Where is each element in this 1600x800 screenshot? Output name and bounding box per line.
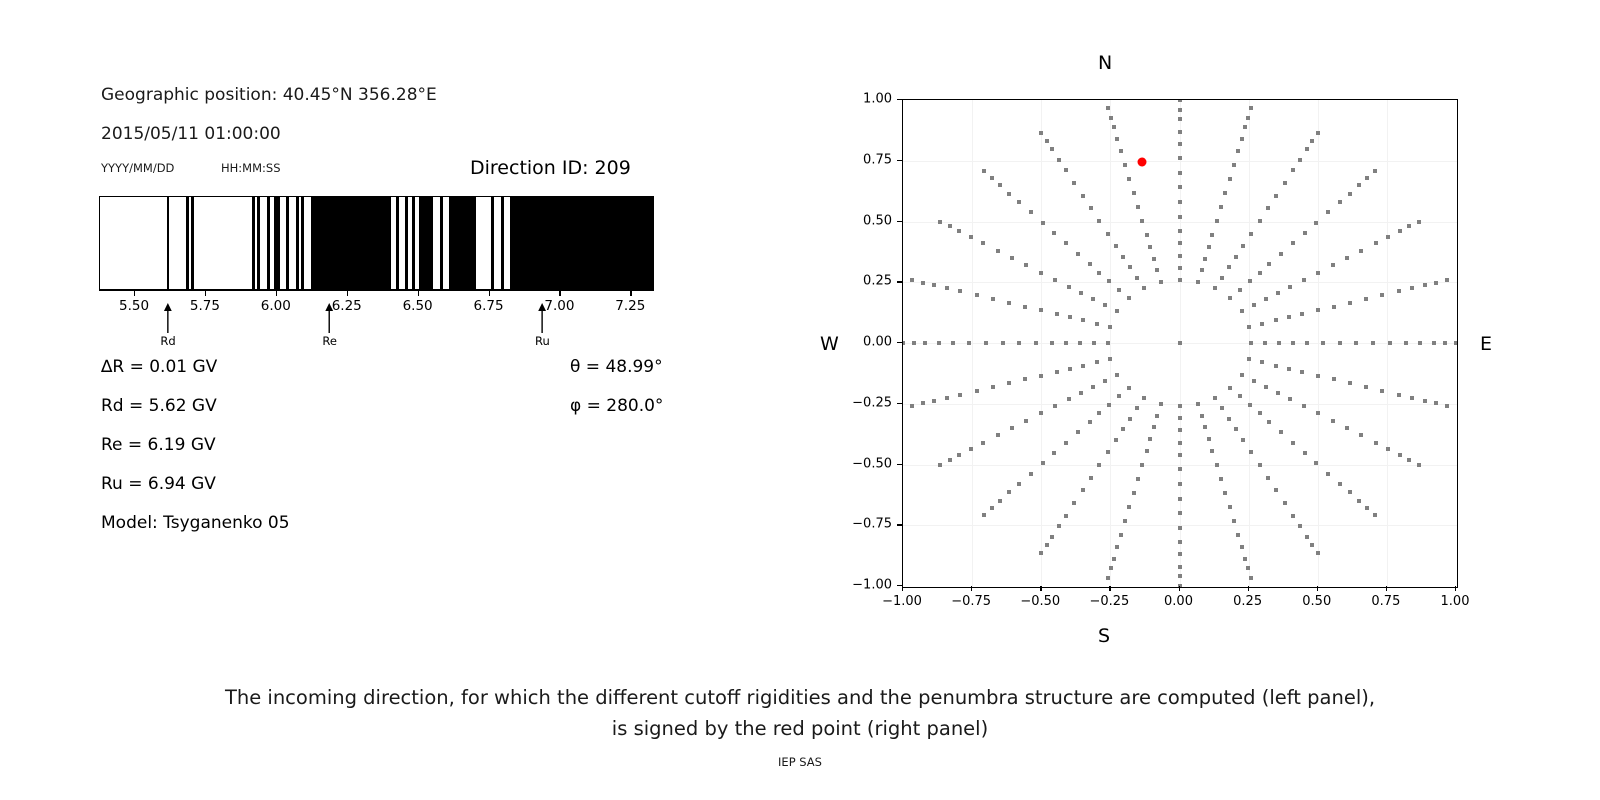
direction-point	[1267, 420, 1271, 424]
direction-point	[990, 506, 994, 510]
compass-label-north: N	[1098, 52, 1112, 74]
penumbra-axis-tick	[347, 290, 348, 296]
direction-point	[1228, 505, 1232, 509]
direction-point	[1274, 488, 1278, 492]
direction-point	[1443, 341, 1447, 345]
penumbra-stripe	[396, 197, 399, 289]
penumbra-axis-tick-label: 5.50	[119, 298, 149, 314]
direction-point	[1354, 341, 1358, 345]
direction-point	[1432, 341, 1436, 345]
direction-point	[1298, 524, 1302, 528]
x-axis-tick-label: 0.00	[1164, 594, 1193, 609]
direction-point	[1220, 406, 1224, 410]
direction-point	[1203, 425, 1207, 429]
direction-point	[1072, 181, 1076, 185]
direction-point	[1434, 401, 1438, 405]
y-axis-tick	[897, 342, 902, 343]
penumbra-stripe	[412, 197, 415, 289]
direction-point	[1249, 450, 1253, 454]
penumbra-stripe	[167, 197, 170, 289]
direction-point	[1274, 194, 1278, 198]
direction-point	[1081, 488, 1085, 492]
direction-point	[1258, 463, 1262, 467]
penumbra-axis-tick	[276, 290, 277, 296]
y-axis-tick-label: 1.00	[840, 92, 892, 107]
penumbra-stripe	[257, 197, 260, 289]
direction-point	[1374, 241, 1378, 245]
direction-point	[1243, 557, 1247, 561]
direction-point	[1203, 257, 1207, 261]
penumbra-stripe	[419, 197, 433, 289]
direction-point	[1264, 385, 1268, 389]
direction-point	[1178, 552, 1182, 556]
direction-point	[1213, 396, 1217, 400]
direction-point	[1152, 425, 1156, 429]
direction-point	[1331, 263, 1335, 267]
direction-point	[1359, 249, 1363, 253]
direction-point	[1064, 241, 1068, 245]
direction-point	[957, 453, 961, 457]
direction-point	[1314, 221, 1318, 225]
y-axis-tick-label: −1.00	[840, 578, 892, 593]
direction-point	[1298, 158, 1302, 162]
direction-point	[1417, 463, 1421, 467]
direction-point	[1029, 210, 1033, 214]
direction-point	[1148, 245, 1152, 249]
direction-point	[1249, 106, 1253, 110]
direction-point	[1050, 341, 1054, 345]
y-axis-tick-label: −0.50	[840, 456, 892, 471]
direction-point	[1079, 291, 1083, 295]
direction-point	[981, 241, 985, 245]
direction-point	[1088, 420, 1092, 424]
geographic-position-label: Geographic position: 40.45°N 356.28°E	[101, 85, 437, 105]
direction-point	[1220, 276, 1224, 280]
direction-point	[1234, 427, 1238, 431]
direction-point	[1024, 263, 1028, 267]
direction-point	[1348, 381, 1352, 385]
direction-point	[984, 341, 988, 345]
caption-line-2: is signed by the red point (right panel)	[0, 713, 1600, 744]
datetime-label: 2015/05/11 01:00:00	[101, 124, 281, 144]
direction-point	[1249, 576, 1253, 580]
x-axis-tick-label: 0.75	[1371, 594, 1400, 609]
param-delta-r: ∆R = 0.01 GV	[101, 357, 217, 377]
penumbra-band-plot	[99, 196, 654, 290]
direction-point	[1300, 312, 1304, 316]
direction-point	[991, 385, 995, 389]
y-axis-tick-label: −0.75	[840, 517, 892, 532]
direction-point	[1240, 373, 1244, 377]
direction-point	[1127, 386, 1131, 390]
rigidity-marker-label: Ru	[535, 334, 550, 348]
direction-point	[1196, 402, 1200, 406]
direction-point	[1055, 312, 1059, 316]
direction-point	[1371, 341, 1375, 345]
direction-point	[1398, 453, 1402, 457]
direction-point	[1103, 303, 1107, 307]
direction-point	[1246, 566, 1250, 570]
direction-point	[1418, 341, 1422, 345]
direction-point	[1039, 551, 1043, 555]
direction-point	[1079, 391, 1083, 395]
y-axis-tick-label: 0.75	[840, 152, 892, 167]
direction-point	[1178, 416, 1182, 420]
direction-point	[1398, 229, 1402, 233]
x-axis-tick	[1109, 586, 1110, 591]
direction-point	[1215, 219, 1219, 223]
direction-point	[1095, 322, 1099, 326]
direction-point	[1305, 341, 1309, 345]
direction-point	[1288, 397, 1292, 401]
direction-point	[1348, 490, 1352, 494]
direction-point	[1316, 131, 1320, 135]
direction-point	[1178, 511, 1182, 515]
gridline-horizontal	[903, 222, 1457, 223]
direction-point	[1364, 385, 1368, 389]
figure-caption: The incoming direction, for which the di…	[0, 682, 1600, 744]
direction-point	[1365, 506, 1369, 510]
direction-point	[1123, 163, 1127, 167]
direction-point	[1228, 296, 1232, 300]
direction-point	[1178, 482, 1182, 486]
direction-point	[945, 396, 949, 400]
direction-point	[1249, 232, 1253, 236]
y-axis-tick-label: 0.00	[840, 335, 892, 350]
direction-point	[1277, 341, 1281, 345]
direction-point	[1045, 139, 1049, 143]
direction-point	[1247, 357, 1251, 361]
direction-point	[1097, 219, 1101, 223]
direction-point	[1068, 315, 1072, 319]
direction-point	[1215, 463, 1219, 467]
direction-point	[1240, 309, 1244, 313]
penumbra-panel: Geographic position: 40.45°N 356.28°E 20…	[0, 0, 760, 660]
direction-point	[1152, 257, 1156, 261]
direction-point	[910, 278, 914, 282]
direction-point	[1274, 364, 1278, 368]
direction-point	[1374, 441, 1378, 445]
direction-point	[1067, 285, 1071, 289]
y-axis-tick	[897, 221, 902, 222]
direction-point	[923, 341, 927, 345]
direction-point	[1228, 386, 1232, 390]
direction-point	[1039, 308, 1043, 312]
direction-point	[1234, 255, 1238, 259]
direction-point	[1155, 414, 1159, 418]
direction-point	[1064, 168, 1068, 172]
direction-point	[1057, 158, 1061, 162]
x-axis-tick-label: 1.00	[1441, 594, 1470, 609]
direction-point	[958, 289, 962, 293]
direction-point	[1053, 278, 1057, 282]
direction-point	[1178, 171, 1182, 175]
direction-point	[1050, 535, 1054, 539]
direction-point	[1039, 131, 1043, 135]
direction-point	[1258, 271, 1262, 275]
direction-point	[1145, 449, 1149, 453]
direction-point	[1064, 441, 1068, 445]
direction-point	[1445, 278, 1449, 282]
direction-point	[1386, 447, 1390, 451]
direction-point	[1223, 491, 1227, 495]
direction-point	[1359, 433, 1363, 437]
direction-point	[1287, 315, 1291, 319]
direction-point	[1089, 476, 1093, 480]
direction-point	[981, 441, 985, 445]
direction-point	[1200, 414, 1204, 418]
direction-point	[1178, 341, 1182, 345]
direction-point	[1148, 437, 1152, 441]
param-ru: Ru = 6.94 GV	[101, 474, 216, 494]
direction-point	[1072, 501, 1076, 505]
direction-point	[1276, 291, 1280, 295]
x-axis-tick	[1040, 586, 1041, 591]
penumbra-stripe	[491, 197, 494, 289]
gridline-horizontal	[903, 161, 1457, 162]
penumbra-axis-tick	[489, 290, 490, 296]
direction-point	[1240, 545, 1244, 549]
x-axis-tick	[902, 586, 903, 591]
direction-point	[1007, 301, 1011, 305]
direction-point	[1252, 379, 1256, 383]
direction-point	[982, 513, 986, 517]
penumbra-stripe	[501, 197, 504, 289]
direction-point	[1321, 341, 1325, 345]
rigidity-marker-label: Rd	[160, 334, 175, 348]
direction-point	[996, 433, 1000, 437]
direction-point	[1106, 232, 1110, 236]
y-axis-tick-label: −0.25	[840, 395, 892, 410]
x-axis-tick	[1179, 586, 1180, 591]
direction-point	[1316, 411, 1320, 415]
direction-point	[1010, 256, 1014, 260]
direction-point	[1117, 288, 1121, 292]
direction-point	[1207, 437, 1211, 441]
direction-point	[1373, 169, 1377, 173]
direction-point	[1178, 142, 1182, 146]
direction-point	[1135, 276, 1139, 280]
direction-point	[1345, 426, 1349, 430]
direction-point	[1243, 125, 1247, 129]
direction-point	[1417, 220, 1421, 224]
direction-point	[1091, 385, 1095, 389]
direction-point	[1316, 271, 1320, 275]
direction-point	[1145, 233, 1149, 237]
direction-point	[1081, 318, 1085, 322]
direction-point	[1039, 271, 1043, 275]
direction-point	[1106, 450, 1110, 454]
direction-point	[1248, 279, 1252, 283]
direction-point	[1115, 545, 1119, 549]
direction-point	[1007, 192, 1011, 196]
param-model: Model: Tsyganenko 05	[101, 513, 290, 533]
penumbra-stripe	[440, 197, 443, 289]
y-axis-tick-label: 0.50	[840, 213, 892, 228]
direction-point	[1112, 125, 1116, 129]
direction-point	[1223, 191, 1227, 195]
direction-point	[1178, 108, 1182, 112]
direction-point	[1178, 254, 1182, 258]
direction-point	[1081, 194, 1085, 198]
x-axis-tick-label: −0.75	[951, 594, 991, 609]
direction-point	[1232, 163, 1236, 167]
direction-point	[1055, 370, 1059, 374]
direction-point	[1236, 149, 1240, 153]
param-theta: θ = 48.99°	[570, 357, 663, 377]
y-axis-tick	[897, 524, 902, 525]
direction-point	[998, 183, 1002, 187]
direction-point	[1291, 341, 1295, 345]
direction-point	[1283, 181, 1287, 185]
penumbra-axis-tick-label: 6.75	[473, 298, 503, 314]
gridline-horizontal	[903, 282, 1457, 283]
direction-point	[969, 235, 973, 239]
x-axis-tick	[1248, 586, 1249, 591]
rigidity-marker-label: Re	[322, 334, 337, 348]
direction-point	[1103, 379, 1107, 383]
direction-point	[1348, 192, 1352, 196]
direction-point	[1109, 566, 1113, 570]
direction-point	[1338, 482, 1342, 486]
direction-point	[1407, 224, 1411, 228]
direction-point	[1127, 505, 1131, 509]
direction-point	[1112, 557, 1116, 561]
direction-point	[1178, 156, 1182, 160]
direction-point	[1316, 374, 1320, 378]
y-axis-tick	[897, 464, 902, 465]
rigidity-marker-re: Re	[322, 303, 337, 348]
direction-point	[1219, 477, 1223, 481]
direction-point	[1088, 262, 1092, 266]
direction-sky-map-panel: N S W E −1.00−1.00−0.75−0.75−0.50−0.50−0…	[820, 40, 1520, 660]
x-axis-tick-label: −0.25	[1089, 594, 1129, 609]
direction-point	[1276, 391, 1280, 395]
selected-direction-point[interactable]	[1138, 157, 1147, 166]
direction-point	[1252, 303, 1256, 307]
direction-point	[1123, 519, 1127, 523]
penumbra-stripe	[301, 197, 304, 289]
direction-point	[1196, 280, 1200, 284]
direction-point	[1114, 438, 1118, 442]
direction-point	[1178, 428, 1182, 432]
direction-point	[1178, 241, 1182, 245]
direction-point	[1097, 271, 1101, 275]
direction-point	[1200, 268, 1204, 272]
direction-point	[1397, 289, 1401, 293]
direction-point	[1316, 308, 1320, 312]
direction-point	[1302, 404, 1306, 408]
direction-point	[1210, 233, 1214, 237]
direction-point	[1107, 403, 1111, 407]
direction-point	[1081, 364, 1085, 368]
direction-point	[1108, 357, 1112, 361]
direction-point	[1445, 404, 1449, 408]
direction-point	[1364, 297, 1368, 301]
direction-point	[1266, 476, 1270, 480]
x-axis-tick-label: −0.50	[1020, 594, 1060, 609]
y-axis-tick	[897, 403, 902, 404]
direction-point	[1267, 262, 1271, 266]
penumbra-stripe	[311, 197, 390, 289]
direction-point	[969, 447, 973, 451]
direction-point	[1114, 244, 1118, 248]
param-phi: φ = 280.0°	[570, 396, 663, 416]
direction-point	[982, 169, 986, 173]
direction-point	[1119, 533, 1123, 537]
direction-point	[1410, 286, 1414, 290]
direction-point	[1279, 252, 1283, 256]
direction-point	[1291, 514, 1295, 518]
compass-label-south: S	[1098, 625, 1110, 647]
direction-point	[975, 389, 979, 393]
direction-point	[1238, 394, 1242, 398]
direction-point	[1034, 341, 1038, 345]
direction-point	[1115, 373, 1119, 377]
direction-point	[1291, 441, 1295, 445]
penumbra-stripes	[100, 197, 653, 289]
direction-point	[1404, 341, 1408, 345]
direction-point	[1260, 322, 1264, 326]
direction-point	[1140, 219, 1144, 223]
direction-point	[1326, 472, 1330, 476]
direction-point	[1266, 206, 1270, 210]
direction-point	[1106, 341, 1110, 345]
direction-point	[1136, 477, 1140, 481]
direction-point	[1380, 389, 1384, 393]
penumbra-stripe	[252, 197, 255, 289]
direction-point	[1302, 278, 1306, 282]
direction-point	[1238, 288, 1242, 292]
compass-label-west: W	[820, 333, 839, 355]
y-axis-tick	[897, 281, 902, 282]
direction-point	[1159, 402, 1163, 406]
penumbra-stripe	[267, 197, 270, 289]
direction-point	[1001, 341, 1005, 345]
direction-point	[1057, 524, 1061, 528]
direction-point	[1115, 309, 1119, 313]
caption-line-1: The incoming direction, for which the di…	[0, 682, 1600, 713]
direction-point	[1291, 168, 1295, 172]
direction-point	[958, 393, 962, 397]
direction-point	[1023, 377, 1027, 381]
penumbra-stripe	[405, 197, 408, 289]
penumbra-stripe	[186, 197, 189, 289]
direction-point	[1303, 451, 1307, 455]
direction-point	[921, 281, 925, 285]
direction-point	[938, 463, 942, 467]
direction-point	[1338, 200, 1342, 204]
direction-point	[937, 341, 941, 345]
penumbra-stripe	[191, 197, 194, 289]
rigidity-marker-rd: Rd	[160, 303, 175, 348]
direction-point	[1310, 139, 1314, 143]
x-axis-tick-label: 0.25	[1233, 594, 1262, 609]
scatter-plot-area	[902, 99, 1458, 588]
param-re: Re = 6.19 GV	[101, 435, 216, 455]
direction-point	[1178, 117, 1182, 121]
penumbra-stripe	[510, 197, 543, 289]
direction-point	[1097, 463, 1101, 467]
direction-point	[1142, 396, 1146, 400]
direction-point	[1240, 137, 1244, 141]
direction-point	[990, 176, 994, 180]
direction-point	[1127, 296, 1131, 300]
penumbra-stripe	[542, 197, 653, 289]
direction-point	[1331, 419, 1335, 423]
direction-point	[1305, 147, 1309, 151]
date-format-hint: YYYY/MM/DD	[101, 161, 174, 175]
